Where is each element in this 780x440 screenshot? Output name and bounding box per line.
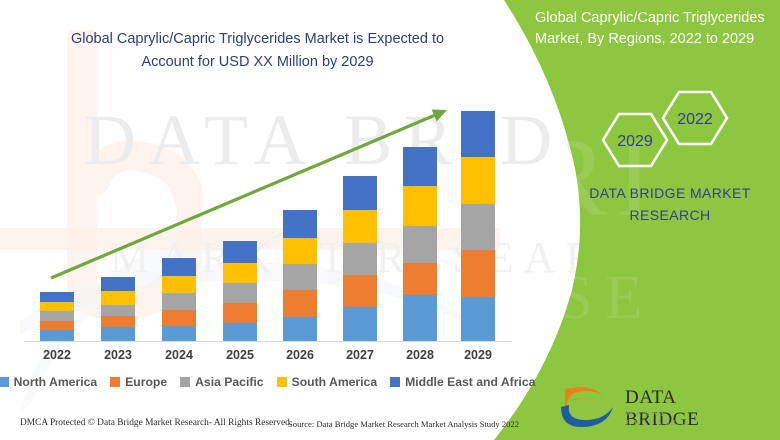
bar-segment [162,276,196,293]
panel-title: Global Caprylic/Capric Triglycerides Mar… [535,8,775,50]
legend-item[interactable]: Asia Pacific [180,375,263,389]
brand-name-line2: RESEARCH [570,205,770,227]
bar-segment [283,264,317,290]
bar-segment [403,295,437,341]
bar-segment [461,250,495,297]
hexagon-2029-label: 2029 [617,133,653,150]
legend-item[interactable]: Europe [110,375,167,389]
bar-segment [40,292,74,302]
legend-swatch-icon [110,377,120,387]
legend-label: North America [14,375,98,389]
bar-segment [101,291,135,305]
x-axis-label-2022: 2022 [27,348,87,362]
legend-swatch-icon [277,377,287,387]
bar-segment [283,290,317,317]
legend-label: Europe [125,375,167,389]
bar-2025 [223,241,257,341]
databridge-logo-icon [545,385,625,431]
bar-2023 [101,277,135,341]
brand-name-line1: DATA BRIDGE MARKET [570,183,770,205]
bar-segment [223,263,257,283]
bar-segment [40,321,74,330]
bar-2026 [283,210,317,341]
stacked-bar-chart: 20222023202420252026202720282029 [0,0,520,345]
bar-segment [283,210,317,238]
panel-title-line2: Market, By Regions, 2022 to 2029 [535,29,775,50]
bar-segment [461,204,495,250]
x-axis-label-2024: 2024 [149,348,209,362]
x-axis-label-2028: 2028 [390,348,450,362]
bar-segment [343,243,377,275]
arrow-head [432,110,447,122]
chart-legend: North AmericaEuropeAsia PacificSouth Ame… [22,375,512,389]
bar-segment [40,302,74,311]
bar-segment [343,275,377,307]
x-axis-label-2026: 2026 [270,348,330,362]
legend-label: Middle East and Africa [405,375,535,389]
brand-name: DATA BRIDGE MARKET RESEARCH [570,183,770,226]
bar-segment [101,316,135,327]
bar-segment [162,310,196,326]
bar-segment [343,307,377,341]
bar-2027 [343,176,377,341]
bar-segment [223,303,257,323]
bar-2022 [40,292,74,341]
legend-item[interactable]: South America [277,375,378,389]
bar-segment [223,283,257,303]
databridge-logo: DATA BRIDGE MARKET RESEARCH [545,385,745,431]
bar-segment [162,258,196,276]
bar-segment [343,176,377,210]
bar-segment [403,226,437,263]
bar-segment [461,157,495,204]
bar-segment [223,323,257,341]
growth-trend-arrow [0,0,520,345]
bar-2024 [162,258,196,341]
legend-swatch-icon [0,377,9,387]
bar-segment [40,311,74,321]
bar-segment [283,317,317,341]
x-axis-label-2025: 2025 [210,348,270,362]
bar-segment [461,297,495,341]
bar-2029 [461,111,495,341]
bar-segment [461,111,495,157]
bar-segment [101,277,135,291]
hexagon-2022-label: 2022 [677,111,713,128]
bar-segment [101,305,135,316]
bar-2028 [403,147,437,341]
bar-segment [403,186,437,226]
bar-segment [40,330,74,341]
panel-title-line1: Global Caprylic/Capric Triglycerides [535,8,775,29]
hexagon-group: 2022 2029 [595,88,735,173]
legend-label: Asia Pacific [195,375,263,389]
x-axis-label-2023: 2023 [88,348,148,362]
infographic-page: DATA BRIDGE MARKET RESEARCH BRI RESE Glo… [0,0,780,440]
x-axis-label-2027: 2027 [330,348,390,362]
legend-swatch-icon [390,377,400,387]
footer-source: Source: Data Bridge Market Research Mark… [288,419,519,429]
bar-segment [223,241,257,263]
x-axis-label-2029: 2029 [448,348,508,362]
legend-item[interactable]: Middle East and Africa [390,375,535,389]
bar-segment [403,147,437,186]
bar-segment [162,293,196,310]
bar-segment [101,327,135,341]
logo-subtitle: MARKET RESEARCH [626,409,745,427]
legend-item[interactable]: North America [0,375,97,389]
footer-copyright: DMCA Protected © Data Bridge Market Rese… [20,418,292,428]
legend-label: South America [292,375,378,389]
bar-segment [162,326,196,341]
bar-segment [343,210,377,243]
x-axis-line [24,341,512,342]
bar-segment [283,238,317,264]
legend-swatch-icon [180,377,190,387]
bar-segment [403,263,437,295]
